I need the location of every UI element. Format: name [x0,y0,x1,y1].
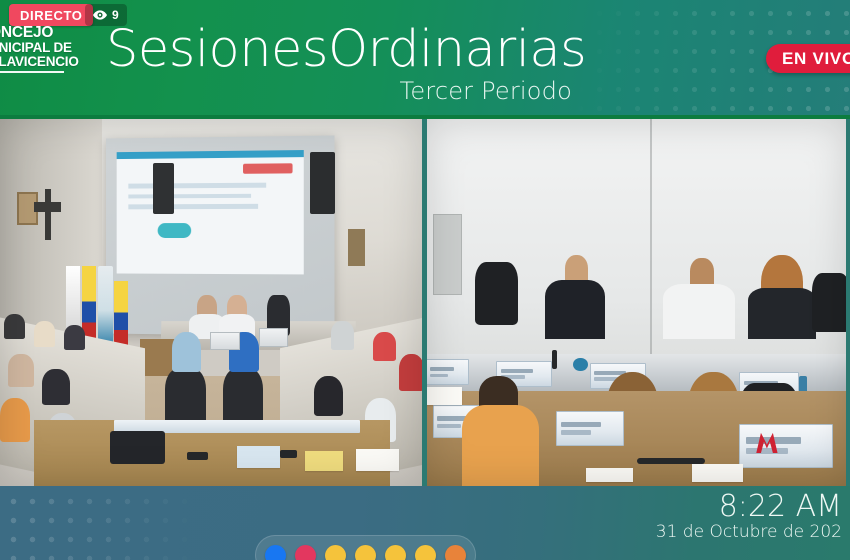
councillor-orange-shirt-body [462,405,539,486]
chair-center-right [223,369,263,428]
angry-reaction[interactable] [445,545,466,560]
councillor-floral-body [748,288,816,339]
panel-close-scene [424,119,850,486]
eye-icon [93,10,107,20]
wow-reaction[interactable] [385,545,406,560]
dais-microphone [573,358,587,371]
document-stack [305,451,343,471]
document-stack [424,387,462,405]
speaker-left [153,163,174,214]
love-reaction[interactable] [295,545,316,560]
title-block: SesionesOrdinarias Tercer Periodo [106,24,626,105]
en-vivo-label: EN VIVO [782,49,850,69]
clock-time: 8:22 AM [656,492,842,523]
attendee [0,398,30,442]
document-stack [692,464,743,482]
attendee [4,314,25,340]
broadcast-stage: DIRECTO 9 CONCEJO MUNICIPAL DE VILLAVICE… [0,0,850,560]
sad-reaction[interactable] [415,545,436,560]
attendee [64,325,85,351]
logo-line-2: MUNICIPAL DE [0,41,88,55]
chair-empty [475,262,518,324]
crucifix-icon [45,189,52,240]
chamber-wide-scene [0,119,424,486]
care-reaction[interactable] [325,545,346,560]
staff-member-blue-dress [172,332,202,372]
page-title: SesionesOrdinarias [106,24,626,75]
video-feed-left[interactable] [0,119,424,486]
attendee [314,376,344,416]
desk-microphone [187,452,208,461]
attendee [373,332,396,361]
nameplate [556,411,624,446]
document-stack [356,449,398,471]
speaker-right [310,152,335,214]
wall-panel [348,229,365,266]
clock-date: 31 de Octubre de 202 [656,522,842,542]
video-feed-right[interactable] [424,119,850,486]
like-reaction[interactable] [265,545,286,560]
haha-reaction[interactable] [355,545,376,560]
attendee [8,354,33,387]
footer-dot-pattern [0,486,200,560]
projector-screen [106,136,334,337]
bag [110,431,165,464]
en-vivo-badge: EN VIVO [766,44,850,73]
live-badge: DIRECTO [9,4,93,26]
feed-divider [422,119,427,486]
attendee [399,354,424,391]
logo-line-3: VILLAVICENCIO [0,55,88,69]
attendee [331,321,354,350]
reaction-tray[interactable] [255,535,476,560]
page-subtitle: Tercer Periodo [106,77,626,105]
live-badge-label: DIRECTO [20,8,82,23]
laptop [210,332,240,350]
attendee [42,369,70,406]
councillor-white-shirt-body [663,284,735,339]
broadcast-footer: 8:22 AM 31 de Octubre de 202 [0,486,850,560]
broadcast-clock: 8:22 AM 31 de Octubre de 202 [656,492,842,542]
nameplate [739,424,833,468]
broadcast-header: DIRECTO 9 CONCEJO MUNICIPAL DE VILLAVICE… [0,0,850,119]
logo-underline [0,71,64,73]
dais-microphone [552,350,558,368]
document-stack [237,446,279,468]
wall-cabinet [433,214,463,295]
council-logo: CONCEJO MUNICIPAL DE VILLAVICENCIO [0,25,88,73]
nameplate [426,359,469,385]
logo-line-1: CONCEJO [0,25,88,41]
chair-center-left [165,369,205,428]
laptop [259,328,289,346]
flag-department [114,281,128,347]
attendee [34,321,55,347]
councillor-dark-shirt-body [545,280,605,339]
desk-microphone [280,450,297,458]
flag-city [98,266,112,347]
feed-right-border [846,119,850,486]
chair-right [812,273,850,332]
document-stack [586,468,633,483]
